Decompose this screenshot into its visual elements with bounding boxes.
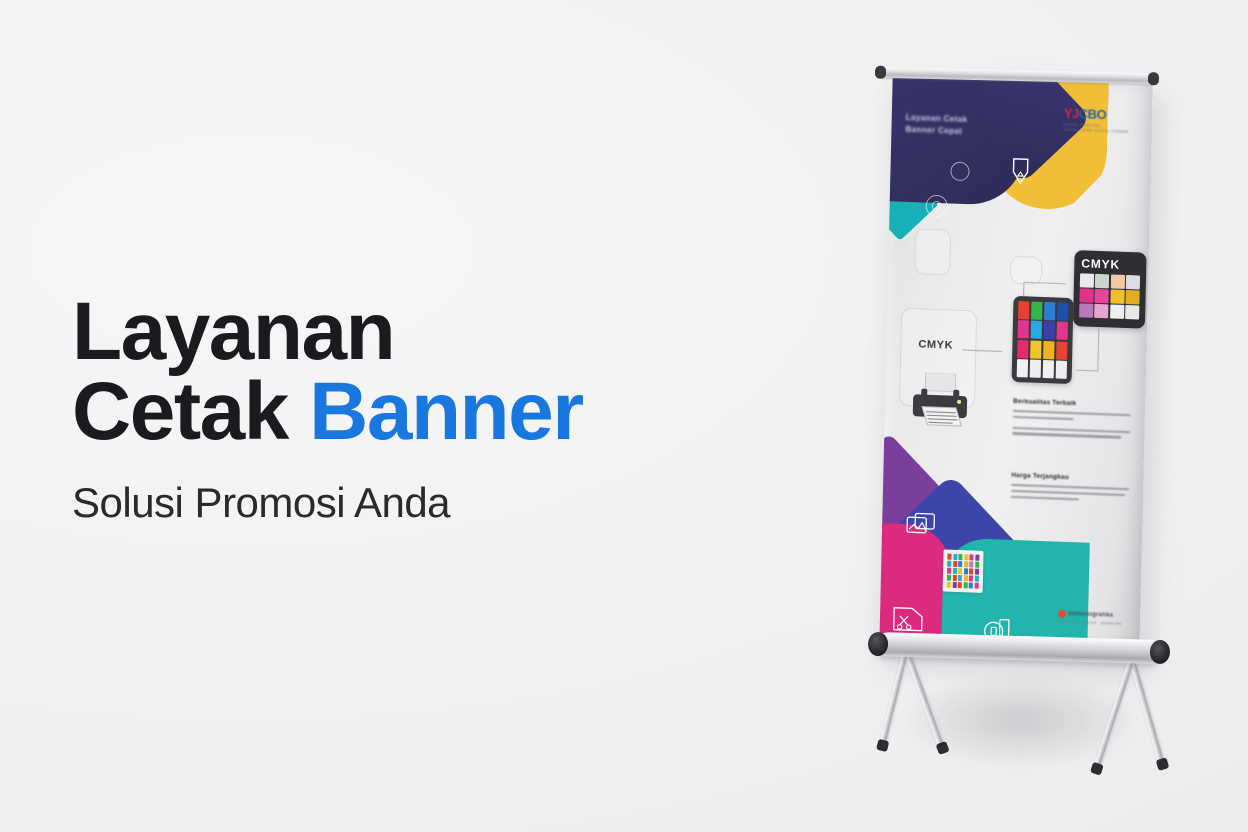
color-swatch <box>1056 322 1068 340</box>
color-swatch <box>1030 321 1042 339</box>
text-line <box>1011 495 1079 500</box>
color-swatch <box>1017 359 1029 377</box>
tablet-swatch-grid <box>1017 301 1069 379</box>
color-swatch <box>1111 274 1125 288</box>
color-swatch <box>947 568 951 574</box>
logo-mark-right: CBO <box>1079 106 1107 122</box>
color-swatch <box>969 583 973 589</box>
color-swatch <box>958 568 962 574</box>
color-swatch <box>969 561 973 567</box>
color-swatch <box>974 583 978 589</box>
color-swatch <box>1094 304 1108 318</box>
cmyk-text-label: CMYK <box>918 338 953 351</box>
color-swatch <box>1042 360 1054 378</box>
color-swatch <box>975 562 979 568</box>
subheadline: Solusi Promosi Anda <box>72 479 712 527</box>
tablet-color-grid-icon <box>1012 296 1074 384</box>
printer-icon <box>908 372 971 430</box>
banner-artwork-face: Layanan Cetak Banner Cepat YJCBO DIGITAL… <box>879 75 1152 650</box>
text-line <box>1011 490 1125 497</box>
headline-line-2: Cetak Banner <box>72 372 712 452</box>
color-swatch <box>947 554 951 560</box>
page-title: Layanan Cetak Banner <box>72 292 712 453</box>
color-swatch <box>963 575 967 581</box>
color-swatch <box>964 554 968 560</box>
rail-end-cap-left <box>875 66 886 79</box>
cut-paper-icon <box>892 604 925 635</box>
color-swatch <box>1056 341 1068 359</box>
color-swatch <box>975 576 979 582</box>
color-swatch <box>1110 305 1124 319</box>
rail-end-cap-right <box>1148 72 1159 85</box>
navy-header-shape <box>879 75 1028 206</box>
cmyk-card-grid <box>1079 273 1140 319</box>
color-swatch <box>1110 290 1124 304</box>
logo-bottom-row: dimensigrafika <box>1058 610 1132 621</box>
color-swatch <box>952 575 956 581</box>
color-swatch <box>958 582 962 588</box>
color-swatch <box>1030 340 1042 358</box>
color-swatch <box>1079 288 1093 302</box>
rollup-banner-stand: Layanan Cetak Banner Cepat YJCBO DIGITAL… <box>860 60 1190 780</box>
color-swatch <box>1043 341 1055 359</box>
color-swatch <box>953 568 957 574</box>
cmyk-swatch-card-icon: CMYK <box>1073 250 1147 329</box>
banner-section-1: Berkualitas Terbaik <box>1012 398 1131 442</box>
color-swatch <box>1017 340 1029 358</box>
color-swatch <box>975 569 979 575</box>
color-swatch <box>947 582 951 588</box>
color-swatch <box>952 582 956 588</box>
color-swatch <box>1095 289 1109 303</box>
color-swatch <box>947 575 951 581</box>
text-line <box>1012 432 1121 438</box>
pen-nib-icon <box>1008 156 1033 187</box>
dot-chart-grid <box>947 554 980 589</box>
banner-header-text: Layanan Cetak Banner Cepat <box>905 112 1015 139</box>
color-swatch <box>1030 360 1042 378</box>
color-swatch <box>1079 304 1093 318</box>
color-swatch <box>1055 361 1067 379</box>
dot-color-chart-icon <box>943 549 984 592</box>
logo-mark-left: YJ <box>1064 106 1079 122</box>
color-swatch <box>975 555 979 561</box>
logo-mark: YJCBO <box>1064 106 1136 124</box>
image-stack-icon <box>906 512 937 541</box>
logo-bottom-mark-icon <box>1058 610 1066 618</box>
color-swatch <box>1125 305 1139 319</box>
cassette-end-cap-left <box>868 632 889 657</box>
color-swatch <box>963 582 967 588</box>
color-swatch <box>1043 321 1055 339</box>
color-swatch <box>1126 275 1140 289</box>
color-swatch <box>964 561 968 567</box>
headline-word-cetak: Cetak <box>72 366 309 457</box>
color-swatch <box>953 554 957 560</box>
color-swatch <box>1018 320 1030 338</box>
color-swatch <box>969 576 973 582</box>
color-swatch <box>958 554 962 560</box>
color-swatch <box>958 575 962 581</box>
color-swatch <box>1095 274 1109 288</box>
color-swatch <box>970 554 974 560</box>
color-swatch <box>1031 302 1043 320</box>
headline-word-banner: Banner <box>309 366 583 457</box>
logo-bottom-name: dimensigrafika <box>1068 611 1113 619</box>
text-line <box>1013 416 1074 421</box>
ghost-shape-a <box>914 228 951 275</box>
color-swatch <box>969 569 973 575</box>
color-swatch <box>947 561 951 567</box>
color-swatch <box>1126 290 1140 304</box>
banner-logo-bottom: dimensigrafika PRINTING . DESIGN . BRAND… <box>1058 610 1132 627</box>
color-swatch <box>964 568 968 574</box>
section-2-title: Harga Terjangkau <box>1011 472 1129 483</box>
cmyk-card-caption: CMYK <box>1081 257 1140 271</box>
banner-logo-top: YJCBO DIGITAL PRINTING SOLUSI CETAK DIGI… <box>1063 106 1136 135</box>
color-swatch <box>958 561 962 567</box>
color-swatch <box>1057 302 1069 320</box>
color-swatch <box>1018 301 1030 319</box>
color-swatch <box>1044 302 1056 320</box>
banner-section-2: Harga Terjangkau <box>1011 472 1130 506</box>
target-icon <box>925 195 948 218</box>
banner-promo-scene: Layanan Cetak Banner Solusi Promosi Anda… <box>0 0 1248 832</box>
color-swatch <box>1080 273 1094 287</box>
headline-line-1: Layanan <box>72 292 712 372</box>
headline-block: Layanan Cetak Banner Solusi Promosi Anda <box>72 292 712 527</box>
color-swatch <box>953 561 957 567</box>
